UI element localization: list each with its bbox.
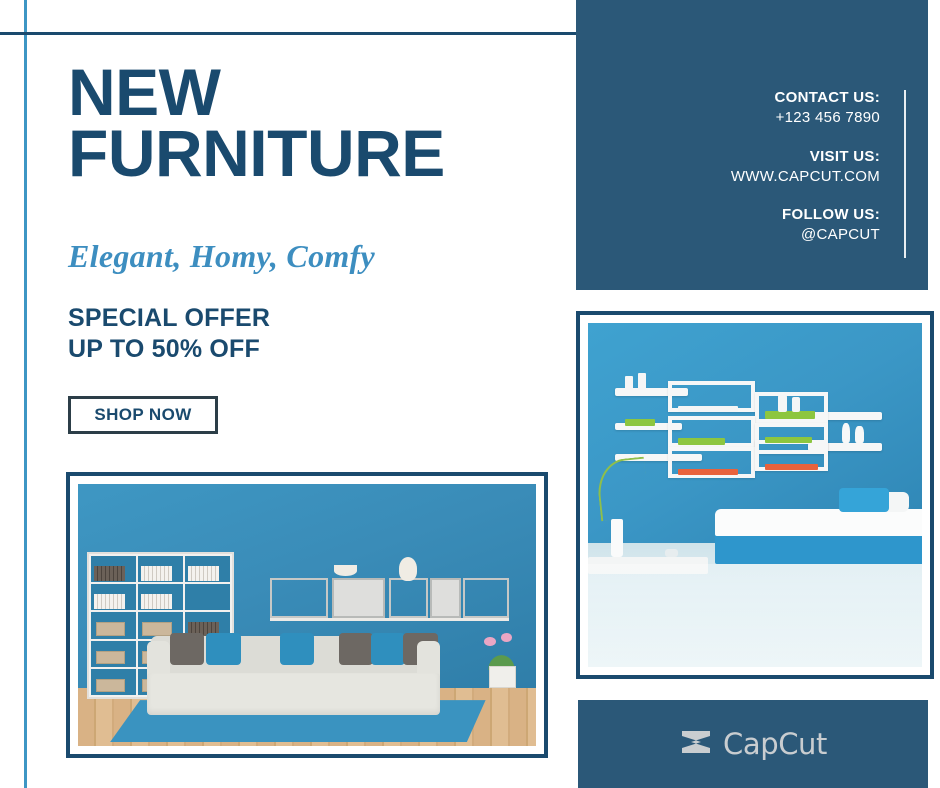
shelf-book (678, 469, 738, 475)
contact-value[interactable]: WWW.CAPCUT.COM (731, 167, 880, 187)
brand-panel: CapCut (578, 700, 928, 788)
shelf-bottle (638, 373, 646, 390)
capcut-bowtie-icon (679, 728, 713, 761)
left-content-column: NEW FURNITURE Elegant, Homy, Comfy SPECI… (0, 0, 576, 788)
floor-vase (611, 519, 623, 557)
contact-value[interactable]: +123 456 7890 (731, 108, 880, 128)
shelf-vase (855, 426, 863, 443)
sofa-pillow (371, 633, 405, 664)
shelf-vase (842, 423, 850, 444)
decorative-vase (399, 557, 417, 581)
headline-line-2: FURNITURE (68, 123, 558, 184)
decorative-bowl (334, 565, 357, 575)
poster-canvas: NEW FURNITURE Elegant, Homy, Comfy SPECI… (0, 0, 940, 788)
offer-line-1: SPECIAL OFFER (68, 303, 270, 334)
shelf-bottle (778, 395, 786, 412)
contact-value[interactable]: @CAPCUT (731, 225, 880, 245)
contact-item-phone: CONTACT US: +123 456 7890 (731, 88, 880, 129)
sofa-seat (147, 673, 440, 715)
contact-item-website: VISIT US: WWW.CAPCUT.COM (731, 147, 880, 188)
contact-label: CONTACT US: (731, 88, 880, 108)
wall-shelf (270, 578, 508, 620)
main-photo-frame (66, 472, 548, 758)
floor-reflection (588, 564, 922, 667)
shelf-book (765, 437, 812, 444)
contact-label: VISIT US: (731, 147, 880, 167)
shelf-book (765, 464, 818, 470)
sofa-pillow (280, 633, 314, 664)
page-title: NEW FURNITURE (68, 62, 558, 183)
shelf-book (765, 411, 815, 420)
bed-base (715, 533, 922, 564)
special-offer-text: SPECIAL OFFER UP TO 50% OFF (68, 303, 270, 364)
sofa-pillow (170, 633, 204, 664)
tagline: Elegant, Homy, Comfy (68, 238, 375, 275)
contact-info-list: CONTACT US: +123 456 7890 VISIT US: WWW.… (731, 88, 880, 246)
contact-label: FOLLOW US: (731, 205, 880, 225)
contact-item-social: FOLLOW US: @CAPCUT (731, 205, 880, 246)
contact-divider-rule (904, 90, 906, 258)
shelf-book (678, 438, 725, 445)
offer-line-2: UP TO 50% OFF (68, 334, 270, 365)
table-object (665, 549, 678, 557)
shelf-book (678, 406, 738, 413)
brand-name: CapCut (723, 727, 827, 761)
shelf-book (625, 419, 655, 426)
shelf-bottle (792, 397, 800, 412)
side-photo-frame (576, 311, 934, 679)
sofa-pillow (206, 633, 240, 664)
bedroom-photo (588, 323, 922, 667)
shelf-bottle (625, 376, 633, 390)
shop-now-button[interactable]: SHOP NOW (68, 396, 218, 434)
bed-mattress (715, 509, 922, 537)
potted-plant (481, 631, 522, 689)
sofa-pillow (339, 633, 373, 664)
contact-panel: CONTACT US: +123 456 7890 VISIT US: WWW.… (576, 0, 928, 290)
bed-cushion (839, 488, 889, 512)
living-room-photo (78, 484, 536, 746)
